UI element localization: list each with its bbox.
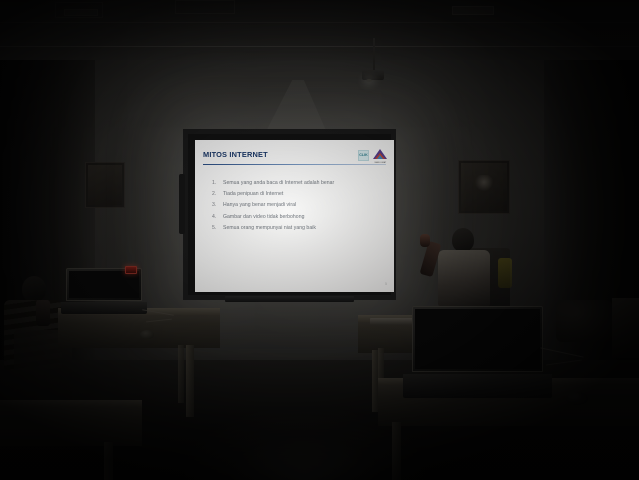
interactive-whiteboard[interactable]: MITOS INTERNET CLIK MAKLUMAT 1. Semua ya… <box>183 129 396 300</box>
classroom-scene: MITOS INTERNET CLIK MAKLUMAT 1. Semua ya… <box>0 0 639 480</box>
desk-leg <box>178 345 184 403</box>
bullet-number: 1. <box>212 180 223 186</box>
desk-surface <box>0 400 142 407</box>
person-hand <box>420 234 430 247</box>
bullet-text: Semua orang mempunyai niat yang baik <box>223 225 316 231</box>
bullet-number: 2. <box>212 191 223 197</box>
poster-left <box>85 162 125 208</box>
mouse-right-desk[interactable] <box>566 392 588 405</box>
square-logo-text: CLIK <box>359 154 367 158</box>
desk-leg <box>186 345 194 417</box>
ceiling-seam <box>0 22 639 23</box>
ceiling-light <box>64 9 98 16</box>
bullet-number: 4. <box>212 214 223 220</box>
person-head <box>22 276 46 302</box>
laptop-keyboard-base[interactable] <box>61 302 148 314</box>
poster-right-art <box>461 163 507 211</box>
list-item: 1. Semua yang anda baca di Internet adal… <box>212 180 384 186</box>
whiteboard-pen-tray[interactable] <box>225 296 355 302</box>
projector-lens-icon <box>366 79 372 82</box>
laptop-front-right[interactable] <box>412 306 543 398</box>
desk-back-left <box>58 308 220 348</box>
power-indicator-led <box>125 266 137 274</box>
projector-body <box>362 70 384 80</box>
slide-header: MITOS INTERNET CLIK MAKLUMAT <box>203 150 388 162</box>
presentation-slide: MITOS INTERNET CLIK MAKLUMAT 1. Semua ya… <box>195 140 394 292</box>
desk-leg <box>392 422 401 480</box>
bullet-text: Gambar dan video tidak berbohong <box>223 214 304 220</box>
participant-right <box>418 228 498 306</box>
bag-right <box>556 300 612 342</box>
mouse-left-desk[interactable] <box>140 330 154 339</box>
ceiling-tile <box>175 0 235 14</box>
laptop-screen[interactable] <box>415 309 540 369</box>
pyramid-logo-icon: MAKLUMAT <box>373 149 388 162</box>
slide-bullet-list: 1. Semua yang anda baca di Internet adal… <box>212 180 384 236</box>
poster-right <box>458 160 510 214</box>
poster-left-art <box>88 165 122 205</box>
bullet-number: 3. <box>212 202 223 208</box>
ceiling-light <box>452 6 494 15</box>
bullet-text: Tiada penipuan di Internet <box>223 191 283 197</box>
slide-page-number: 5 <box>385 282 387 286</box>
list-item: 2. Tiada penipuan di Internet <box>212 191 384 197</box>
bullet-number: 5. <box>212 225 223 231</box>
projector-mount-rod <box>373 38 375 72</box>
laptop-lid <box>412 306 543 372</box>
bullet-text: Hanya yang benar menjadi viral <box>223 202 296 208</box>
list-item: 5. Semua orang mempunyai niat yang baik <box>212 225 384 231</box>
board-side-bracket <box>179 174 185 234</box>
cabinet-right <box>612 298 639 358</box>
poster-crest-icon <box>475 175 493 191</box>
desk-leg <box>104 442 113 480</box>
slide-title: MITOS INTERNET <box>203 150 268 159</box>
desk-front-left <box>0 400 142 446</box>
laptop-keyboard-base[interactable] <box>403 374 552 398</box>
laptop-back-left[interactable] <box>66 268 142 314</box>
slide-logos: CLIK MAKLUMAT <box>358 149 388 162</box>
ceiling-seam <box>0 46 639 47</box>
keyboard-mid-right[interactable] <box>370 318 418 325</box>
square-logo-icon: CLIK <box>358 150 369 161</box>
chair-cushion-right <box>498 258 512 288</box>
list-item: 4. Gambar dan video tidak berbohong <box>212 214 384 220</box>
person-arm <box>36 300 50 326</box>
slide-title-divider <box>203 164 386 165</box>
list-item: 3. Hanya yang benar menjadi viral <box>212 202 384 208</box>
person-head <box>452 228 474 252</box>
laptop-screen[interactable] <box>69 271 139 298</box>
person-torso <box>438 250 490 306</box>
bullet-text: Semua yang anda baca di Internet adalah … <box>223 180 334 186</box>
